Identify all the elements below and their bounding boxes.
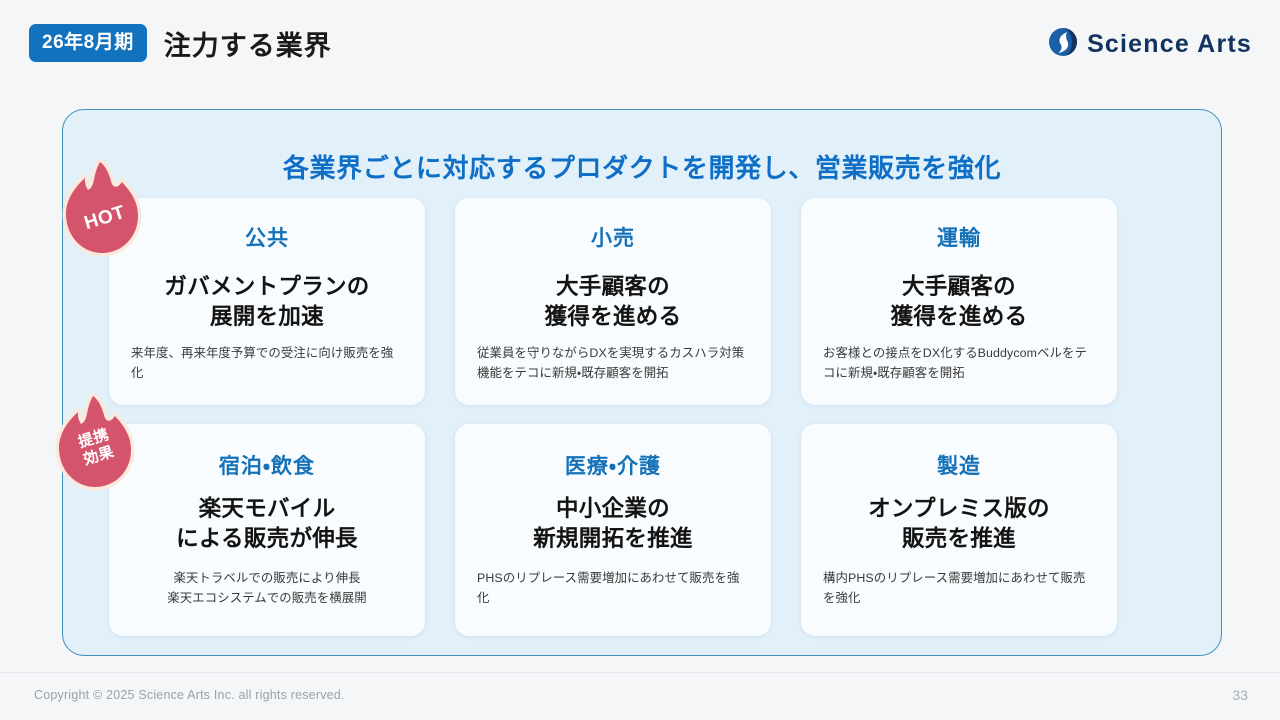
card-headline: 大手顧客の 獲得を進める [475,272,751,332]
period-badge: 26年8月期 [29,24,147,62]
partnership-badge-line2: 効果 [82,443,117,470]
page-number: 33 [1232,687,1248,703]
partnership-badge-line1: 提携 [76,426,111,453]
copyright-text: Copyright © 2025 Science Arts Inc. all r… [34,688,345,702]
card-industry-label: 宿泊・飲食 [129,450,405,480]
card-headline: 楽天モバイル による販売が伸長 [129,494,405,554]
card-description: お客様との接点をDX化するBuddycomベルをテコに新規・既存顧客を開拓 [821,343,1097,383]
industry-card-grid: HOT 公共 ガバメントプランの 展開を加速 来年度、再来年度予算での受注に向け… [109,198,1177,636]
panel-heading: 各業界ごとに対応するプロダクトを開発し、営業販売を強化 [63,148,1221,185]
industry-card[interactable]: 製造 オンプレミス版の 販売を推進 構内PHSのリプレース需要増加にあわせて販売… [801,424,1117,636]
card-industry-label: 公共 [129,222,405,252]
industry-card[interactable]: HOT 公共 ガバメントプランの 展開を加速 来年度、再来年度予算での受注に向け… [109,198,425,405]
card-description: PHSのリプレース需要増加にあわせて販売を強化 [475,568,751,608]
page-header: 26年8月期 注力する業界 Science Arts [0,0,1280,86]
company-logo: Science Arts [1048,27,1252,62]
science-arts-circle-mark-icon [1048,27,1078,62]
card-industry-label: 運輸 [821,222,1097,252]
page-title: 注力する業界 [164,24,332,63]
industries-panel: 各業界ごとに対応するプロダクトを開発し、営業販売を強化 HOT 公共 ガバメント… [62,109,1222,656]
card-description: 楽天トラベルでの販売により伸長 楽天エコシステムでの販売を横展開 [129,568,405,608]
page-footer: Copyright © 2025 Science Arts Inc. all r… [0,672,1280,720]
card-headline: 大手顧客の 獲得を進める [821,272,1097,332]
industry-card[interactable]: 医療・介護 中小企業の 新規開拓を推進 PHSのリプレース需要増加にあわせて販売… [455,424,771,636]
card-industry-label: 医療・介護 [475,450,751,480]
card-headline: ガバメントプランの 展開を加速 [129,272,405,332]
card-industry-label: 小売 [475,222,751,252]
industry-card[interactable]: 運輸 大手顧客の 獲得を進める お客様との接点をDX化するBuddycomベルを… [801,198,1117,405]
card-headline: オンプレミス版の 販売を推進 [821,494,1097,554]
logo-wordmark: Science Arts [1087,30,1252,59]
card-description: 来年度、再来年度予算での受注に向け販売を強化 [129,343,405,383]
card-description: 構内PHSのリプレース需要増加にあわせて販売を強化 [821,568,1097,608]
card-industry-label: 製造 [821,450,1097,480]
industry-card[interactable]: 提携 効果 宿泊・飲食 楽天モバイル による販売が伸長 楽天トラベルでの販売によ… [109,424,425,636]
card-description: 従業員を守りながらDXを実現するカスハラ対策機能をテコに新規・既存顧客を開拓 [475,343,751,383]
card-headline: 中小企業の 新規開拓を推進 [475,494,751,554]
industry-card[interactable]: 小売 大手顧客の 獲得を進める 従業員を守りながらDXを実現するカスハラ対策機能… [455,198,771,405]
